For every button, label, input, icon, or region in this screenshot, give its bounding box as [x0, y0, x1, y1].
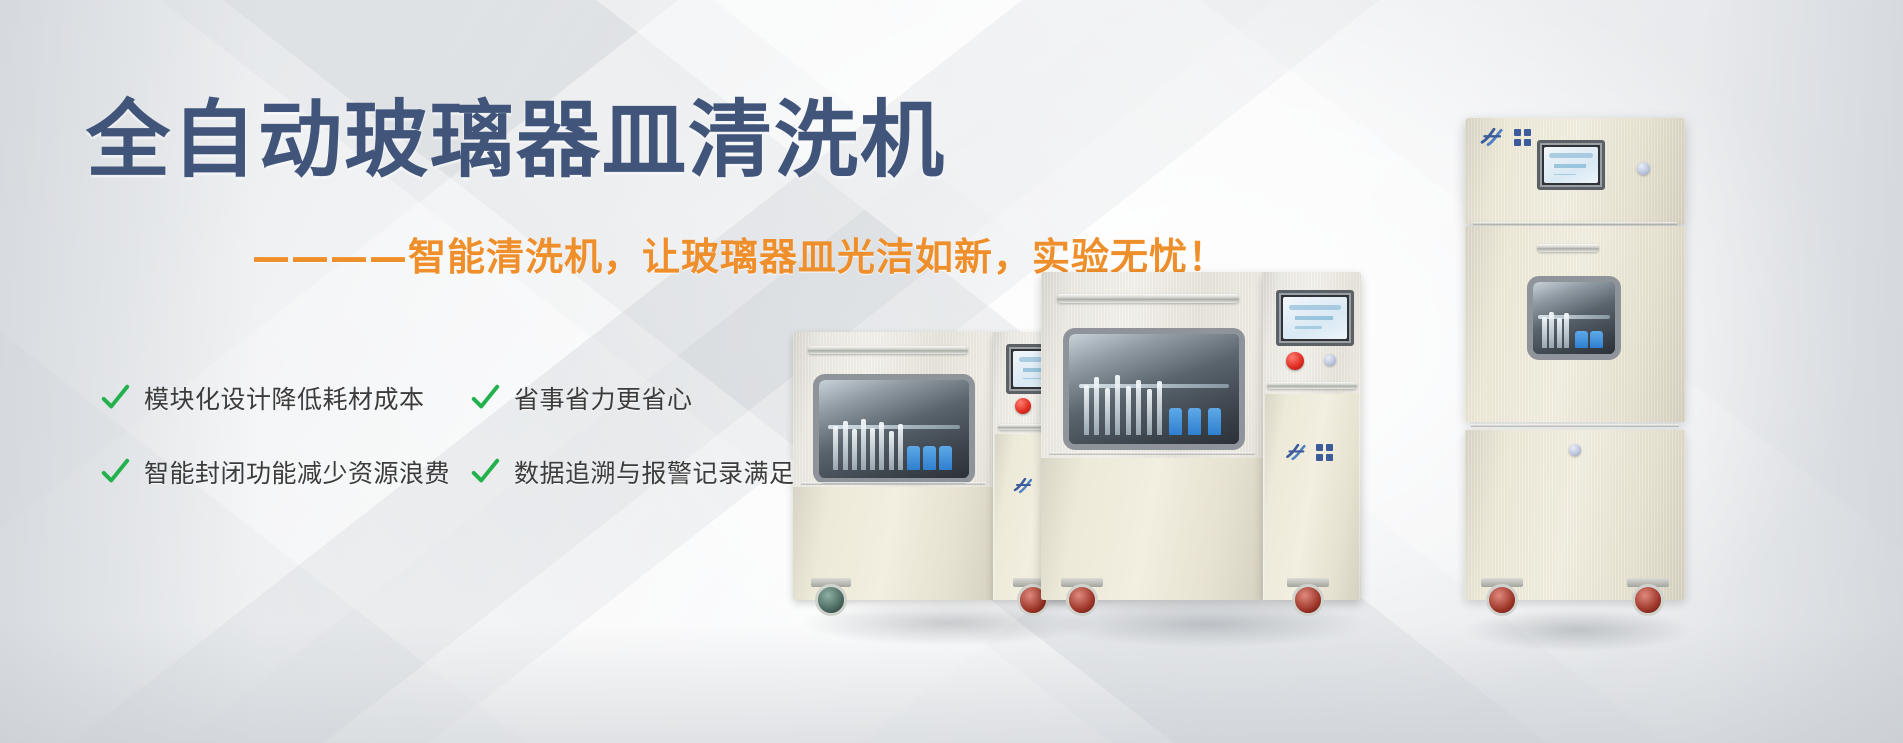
feature-label: 省事省力更省心: [514, 380, 693, 416]
caster-wheel: [1287, 578, 1329, 616]
caster-wheel: [1061, 578, 1103, 616]
door-handle: [1537, 244, 1599, 252]
check-icon: [470, 383, 500, 413]
touchscreen-display[interactable]: [1276, 290, 1354, 346]
feature-label: 智能封闭功能减少资源浪费: [144, 454, 450, 490]
power-button[interactable]: [1637, 162, 1650, 175]
emergency-stop-button[interactable]: [1015, 398, 1031, 414]
check-icon: [470, 457, 500, 487]
viewing-window: [1527, 276, 1621, 360]
touchscreen-display[interactable]: [1537, 140, 1605, 190]
caster-wheel: [1481, 578, 1523, 616]
list-item: 智能封闭功能减少资源浪费: [100, 454, 470, 490]
viewing-window: [1063, 328, 1245, 450]
door-handle: [1057, 294, 1239, 303]
list-item: 模块化设计降低耗材成本: [100, 380, 470, 416]
cabinet-lock[interactable]: [1569, 444, 1581, 456]
product-banner: 全自动玻璃器皿清洗机 ————智能清洗机，让玻璃器皿光洁如新，实验无忧！ 模块化…: [0, 0, 1903, 743]
product-image-undercounter-washer: [793, 332, 1083, 600]
brand-logo: [1285, 444, 1333, 461]
power-button[interactable]: [1324, 354, 1336, 366]
product-image-group: [893, 0, 1903, 743]
glassware-rack: [1079, 356, 1229, 435]
product-image-freestanding-washer: [1041, 272, 1361, 600]
emergency-stop-button[interactable]: [1286, 352, 1304, 370]
glassware-rack: [1538, 296, 1610, 348]
list-item: 省事省力更省心: [470, 380, 693, 416]
banner-title: 全自动玻璃器皿清洗机: [86, 98, 946, 182]
check-icon: [100, 383, 130, 413]
viewing-window: [813, 374, 975, 484]
brand-logo: [1479, 128, 1531, 147]
door-handle: [808, 346, 968, 354]
caster-wheel: [1627, 578, 1669, 616]
caster-wheel: [811, 578, 851, 616]
check-icon: [100, 457, 130, 487]
glassware-rack: [828, 400, 960, 471]
product-image-tall-cabinet-washer: [1465, 118, 1685, 600]
feature-label: 模块化设计降低耗材成本: [144, 380, 425, 416]
